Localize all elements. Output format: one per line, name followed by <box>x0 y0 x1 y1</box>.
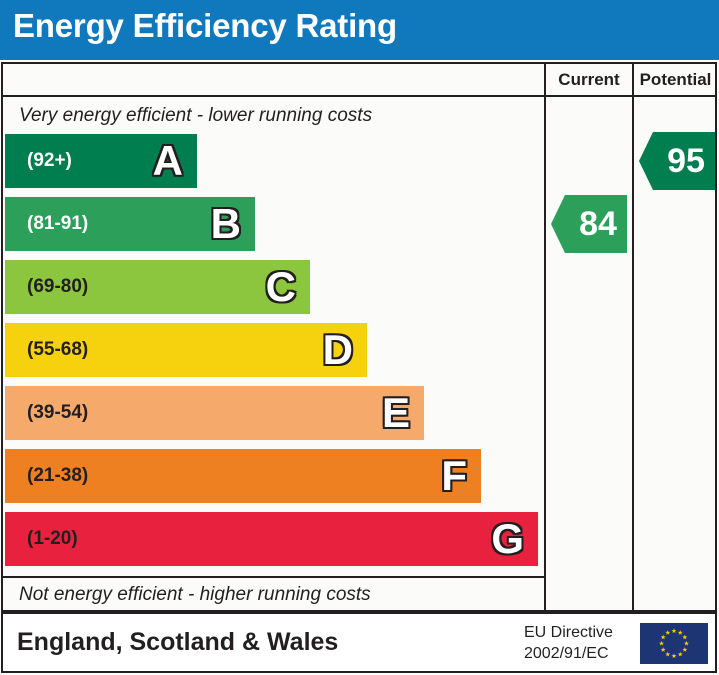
band-letter-a: A <box>153 135 183 189</box>
band-row-b: (81-91)B <box>5 197 255 251</box>
eu-star <box>678 652 683 657</box>
band-letter-f: F <box>441 450 467 504</box>
band-range-b: (81-91) <box>27 197 88 251</box>
eu-star <box>665 630 670 635</box>
column-header-row: Current Potential <box>3 64 715 97</box>
footer-directive-line2: 2002/91/EC <box>524 643 613 664</box>
eu-star <box>682 647 687 652</box>
title-bar: Energy Efficiency Rating <box>0 0 719 60</box>
band-row-f: (21-38)F <box>5 449 481 503</box>
band-letter-e: E <box>382 387 410 441</box>
eu-star <box>684 641 689 646</box>
caption-inefficient: Not energy efficient - higher running co… <box>3 576 544 610</box>
column-divider-current <box>544 97 546 612</box>
eu-star <box>661 647 666 652</box>
eu-star <box>672 653 677 658</box>
band-row-c: (69-80)C <box>5 260 310 314</box>
band-range-d: (55-68) <box>27 323 88 377</box>
rating-chart: Current Potential Very energy efficient … <box>1 62 717 612</box>
band-range-a: (92+) <box>27 134 72 188</box>
band-row-e: (39-54)E <box>5 386 424 440</box>
energy-efficiency-certificate: Energy Efficiency Rating Current Potenti… <box>0 0 719 675</box>
band-row-a: (92+)A <box>5 134 197 188</box>
band-range-c: (69-80) <box>27 260 88 314</box>
band-range-e: (39-54) <box>27 386 88 440</box>
band-range-f: (21-38) <box>27 449 88 503</box>
current-rating-marker: 84 <box>551 195 627 253</box>
column-header-current: Current <box>544 64 632 95</box>
eu-flag-icon <box>640 623 708 664</box>
eu-star <box>682 635 687 640</box>
eu-star <box>661 635 666 640</box>
eu-flag-stars <box>640 623 708 664</box>
band-row-g: (1-20)G <box>5 512 538 566</box>
potential-rating-marker: 95 <box>639 132 715 190</box>
column-header-potential: Potential <box>632 64 717 95</box>
eu-star <box>659 641 664 646</box>
band-row-d: (55-68)D <box>5 323 367 377</box>
column-divider-potential <box>632 97 634 612</box>
band-letter-g: G <box>491 513 524 567</box>
band-letter-c: C <box>266 261 296 315</box>
band-letter-d: D <box>323 324 353 378</box>
footer-directive-line1: EU Directive <box>524 622 613 643</box>
band-letter-b: B <box>211 198 241 252</box>
footer-bar: England, Scotland & Wales EU Directive 2… <box>1 612 717 673</box>
eu-star <box>672 628 677 633</box>
caption-efficient: Very energy efficient - lower running co… <box>3 99 544 133</box>
footer-region-label: England, Scotland & Wales <box>17 614 338 671</box>
page-title: Energy Efficiency Rating <box>13 7 397 45</box>
eu-star <box>678 630 683 635</box>
eu-star <box>665 652 670 657</box>
band-range-g: (1-20) <box>27 512 78 566</box>
footer-directive: EU Directive 2002/91/EC <box>524 622 613 664</box>
band-list: (92+)A(81-91)B(69-80)C(55-68)D(39-54)E(2… <box>3 134 544 576</box>
